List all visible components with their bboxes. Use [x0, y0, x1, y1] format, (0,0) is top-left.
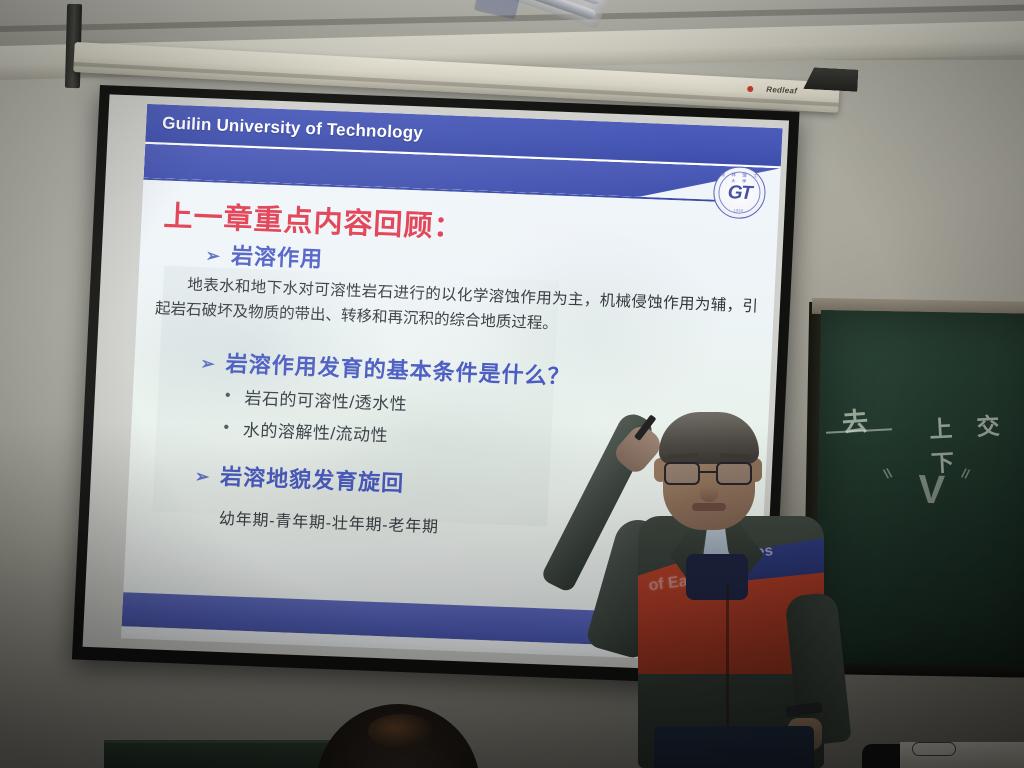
wall-shading: [0, 0, 1024, 768]
classroom-scene: Redleaf Guilin University of Technology …: [0, 0, 1024, 768]
